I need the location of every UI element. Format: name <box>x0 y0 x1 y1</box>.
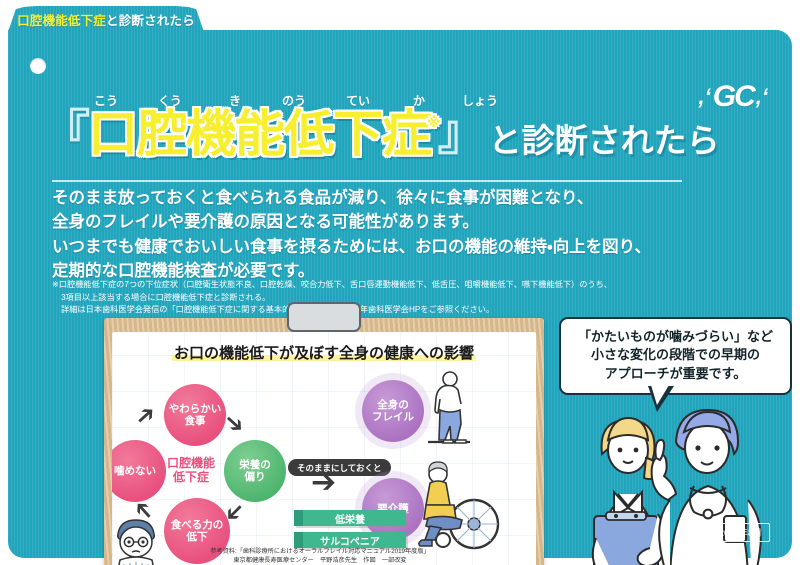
body-line-1: そのまま放っておくと食べられる食品が減り、徐々に食事が困難となり、 <box>52 186 692 210</box>
connector-pill: そのままにしておくと <box>288 459 391 476</box>
headline-keyword: 口腔機能低下症 <box>88 109 431 159</box>
logo-right-tick: ,‘ <box>756 86 768 108</box>
tag-sarcopenia-label: サルコペニア <box>320 533 380 548</box>
center-label-line2: 低下症 <box>154 470 228 484</box>
bubble-line-2: 小さな変化の段階での早期の <box>567 346 784 364</box>
folder-tab-highlight: 口腔機能低下症 <box>17 14 106 28</box>
cycle-node-soft-food-line1: やわらかい <box>169 403 222 415</box>
open-bracket: 『 <box>42 112 90 155</box>
punch-hole <box>30 58 46 74</box>
outcome-frailty-line2: フレイル <box>372 411 414 423</box>
headline-block: こう くう き のう てい か しょう 『 口腔機能低下症 ※ 』 と診断された… <box>44 92 704 159</box>
cycle-node-soft-food-line2: 食事 <box>185 415 206 427</box>
cycle-node-eating-line2: 低下 <box>187 531 208 543</box>
body-line-3: いつまでも健康でおいしい食事を摂るためには、お口の機能の維持・向上を図り、 <box>52 235 692 259</box>
folder-tab[interactable]: 口腔機能低下症と診断されたら <box>8 6 204 32</box>
speech-bubble: 「かたいものが噛みづらい」など 小さな変化の段階での早期の アプローチが重要です… <box>559 317 792 395</box>
bubble-line-3: アプローチが重要です。 <box>567 365 784 383</box>
tag-malnutrition-label: 低栄養 <box>335 511 365 526</box>
tag-malnutrition: 低栄養 <box>294 510 406 526</box>
diagram-canvas: お口の機能低下が及ぼす全身の健康への影響 やわらかい 食事 栄養の 偏り 食べる… <box>112 332 536 565</box>
diagram-title: お口の機能低下が及ぼす全身の健康への影響 <box>112 342 536 363</box>
outcome-node-frailty: 全身の フレイル <box>362 380 424 442</box>
cycle-node-chew-line1: 噛めない <box>114 465 156 477</box>
cycle-node-nutrition-line2: 偏り <box>245 471 266 483</box>
cycle-node-soft-food: やわらかい 食事 <box>164 384 226 446</box>
revision-badge: 改定:2022年8月 <box>690 523 770 542</box>
headline-line: 『 口腔機能低下症 ※ 』 と診断されたら <box>44 109 704 159</box>
furigana-7: しょう <box>462 92 498 109</box>
footnote-line-1: ※口腔機能低下症の7つの下位症状（口腔衛生状態不良、口腔乾燥、咬合力低下、舌口唇… <box>52 279 632 292</box>
outcome-node-nursing-care: 要介護 <box>362 478 424 540</box>
center-label-line1: 口腔機能 <box>154 456 228 470</box>
headline-tail: と診断されたら <box>489 124 720 157</box>
bubble-line-1: 「かたいものが噛みづらい」など <box>567 328 784 346</box>
folder-tab-rest: と診断されたら <box>106 14 195 28</box>
logo-mark: GC <box>713 82 754 112</box>
credit-line-2: 東京都健康長寿医療センター 平野浩彦先生 作図 一部改変 <box>112 557 528 565</box>
clipboard-clip-icon <box>287 302 361 332</box>
poster-root: 口腔機能低下症と診断されたら ,‘ GC ,‘ こう くう き のう てい か … <box>0 0 800 565</box>
credit-line-1: 参考資料:「歯科診療所におけるオーラルフレイル対応マニュアル2019年度版」 <box>112 548 528 557</box>
main-card: ,‘ GC ,‘ こう くう き のう てい か しょう 『 口腔機能低下症 ※… <box>8 30 792 558</box>
body-paragraph: そのまま放っておくと食べられる食品が減り、徐々に食事が困難となり、 全身のフレイ… <box>52 186 692 284</box>
diagram-center-label: 口腔機能 低下症 <box>154 456 228 485</box>
cycle-node-nutrition-imbalance: 栄養の 偏り <box>224 440 286 502</box>
gc-logo: ,‘ GC ,‘ <box>699 82 768 112</box>
clipboard-panel: お口の機能低下が及ぼす全身の健康への影響 やわらかい 食事 栄養の 偏り 食べる… <box>104 318 544 565</box>
connector-pill-label: そのままにしておくと <box>297 462 382 474</box>
outcome-frailty-line1: 全身の <box>377 399 409 411</box>
close-bracket: 』 <box>438 112 486 155</box>
walking-elderly-illustration <box>424 368 476 444</box>
connector-arrow-icon: ➔ <box>311 468 336 498</box>
body-line-2: 全身のフレイルや要介護の原因となる可能性があります。 <box>52 210 692 234</box>
divider-rule <box>52 180 682 182</box>
asterisk-mark: ※ <box>427 115 440 129</box>
folder-tab-label: 口腔機能低下症と診断されたら <box>17 10 195 29</box>
tag-sarcopenia: サルコペニア <box>294 532 406 548</box>
cycle-node-nutrition-line1: 栄養の <box>239 459 271 471</box>
wheelchair-patient-illustration <box>416 460 508 552</box>
diagram-credit: 参考資料:「歯科診療所におけるオーラルフレイル対応マニュアル2019年度版」 東… <box>112 548 528 565</box>
cycle-node-eating-line1: 食べる力の <box>171 519 224 531</box>
